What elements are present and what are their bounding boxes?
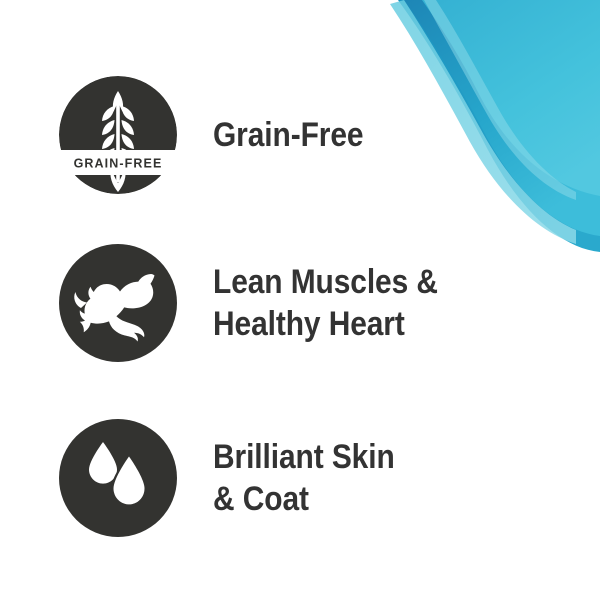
feature-row-grain-free: GRAIN-FREE Grain-Free [59,76,384,194]
grain-free-wheat-icon: GRAIN-FREE [59,76,177,194]
water-droplets-row: Brilliant Skin & Coat [59,419,419,537]
swoosh-deep-band [404,0,600,236]
feature-row-lean-muscles: Lean Muscles & Healthy Heart [59,244,469,362]
leaping-dog-icon [59,244,177,362]
swoosh-edge-band [398,0,600,252]
grain-free-banner-text: GRAIN-FREE [74,157,163,171]
feature-label-brilliant-skin: Brilliant Skin & Coat [213,436,395,520]
feature-label-lean-muscles: Lean Muscles & Healthy Heart [213,261,438,345]
swoosh-mid-band [422,0,600,196]
swoosh-inner-streak [424,0,576,200]
feature-benefits-panel: GRAIN-FREE Grain-Free Lean Muscles & Hea… [0,0,600,600]
swoosh-pale-highlight [390,0,576,244]
water-droplets-icon [59,419,177,537]
blue-wave-swoosh [370,0,600,270]
feature-label-grain-free: Grain-Free [213,114,363,156]
